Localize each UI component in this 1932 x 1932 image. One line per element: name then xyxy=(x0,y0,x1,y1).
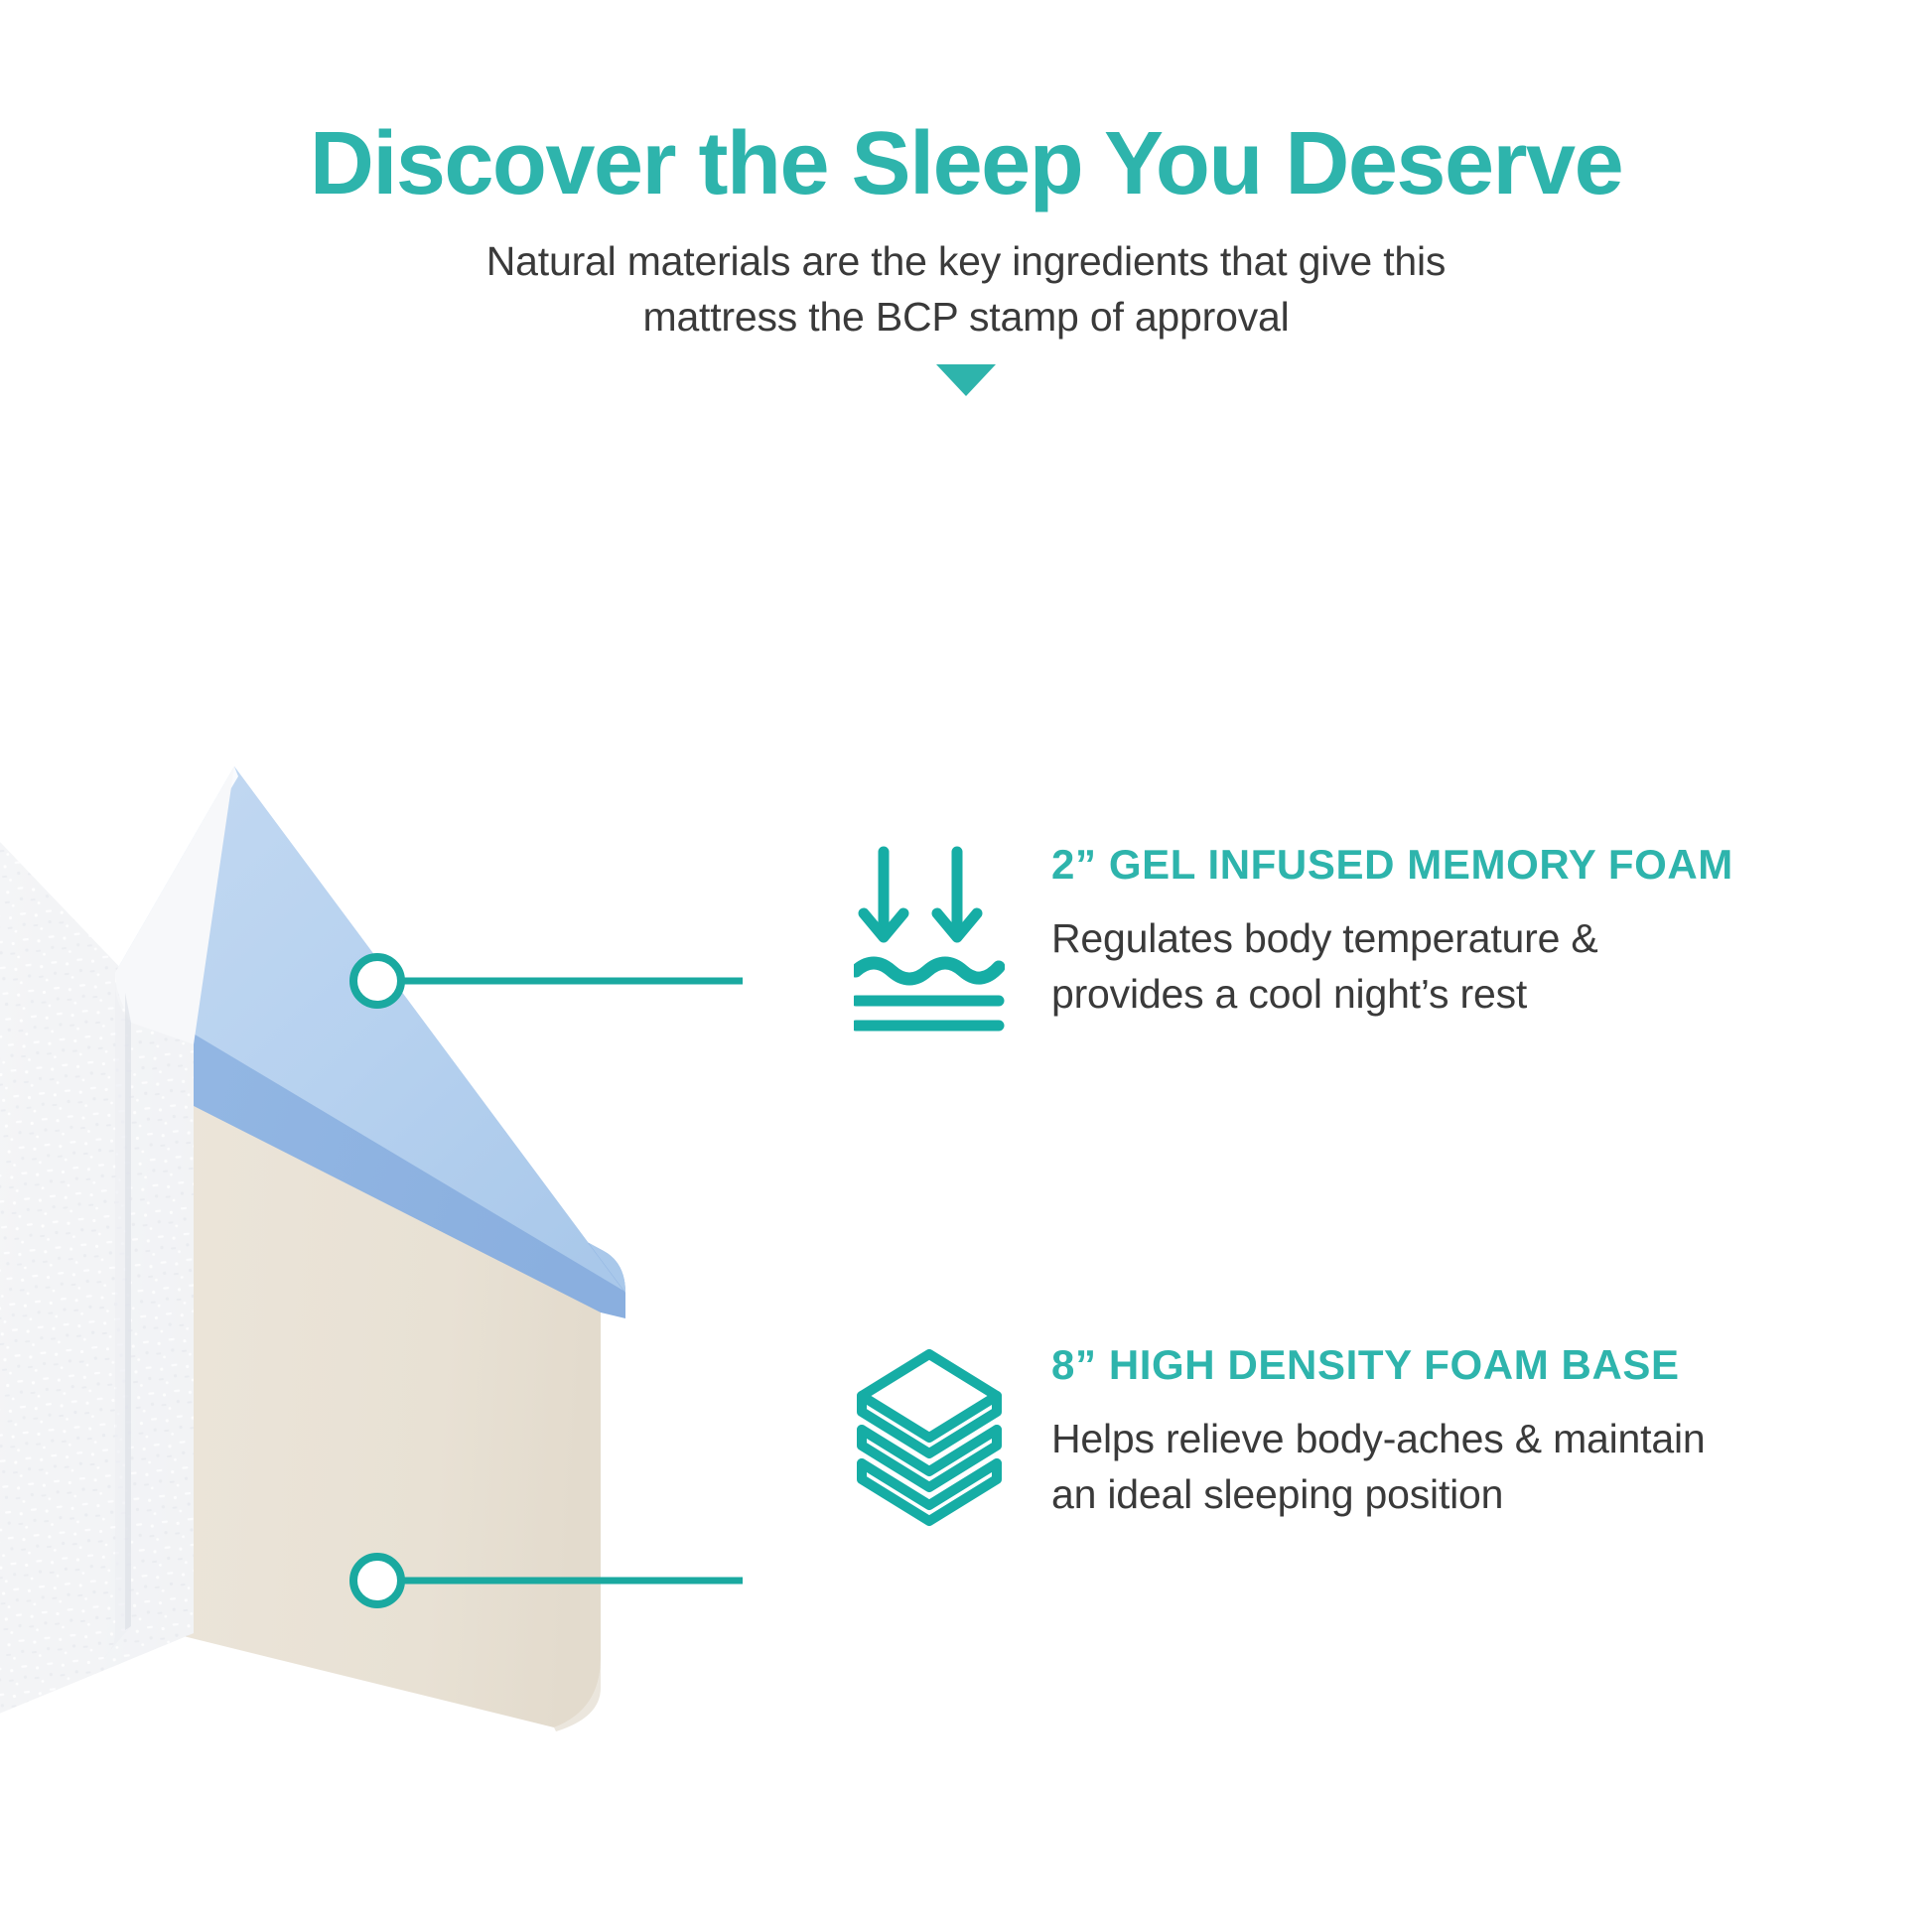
stacked-layers-icon xyxy=(854,1342,1028,1538)
leader-line-gel-foam xyxy=(353,957,743,1005)
feature-base-foam: 8” HIGH DENSITY FOAM BASE Helps relieve … xyxy=(854,1342,1916,1538)
quilted-cover-panel xyxy=(0,645,208,1787)
feature-base-foam-title: 8” HIGH DENSITY FOAM BASE xyxy=(1051,1342,1916,1388)
feature-base-foam-text: 8” HIGH DENSITY FOAM BASE Helps relieve … xyxy=(1028,1342,1916,1523)
subtitle-line-2: mattress the BCP stamp of approval xyxy=(420,289,1512,345)
page-title: Discover the Sleep You Deserve xyxy=(0,117,1932,211)
mattress-cutaway-diagram xyxy=(0,556,834,1787)
feature-gel-foam-text: 2” GEL INFUSED MEMORY FOAM Regulates bod… xyxy=(1028,842,1916,1023)
feature-gel-foam-description: Regulates body temperature & provides a … xyxy=(1051,911,1865,1023)
feature-gel-foam-title: 2” GEL INFUSED MEMORY FOAM xyxy=(1051,842,1916,888)
pressure-arrows-waves-icon xyxy=(854,842,1028,1037)
subtitle-line-1: Natural materials are the key ingredient… xyxy=(420,233,1512,290)
feature-gel-foam-desc-line-1: Regulates body temperature & xyxy=(1051,915,1598,961)
header-block: Discover the Sleep You Deserve Natural m… xyxy=(0,117,1932,345)
feature-gel-foam: 2” GEL INFUSED MEMORY FOAM Regulates bod… xyxy=(854,842,1916,1037)
leader-dot-base-foam xyxy=(353,1557,401,1604)
page-subtitle: Natural materials are the key ingredient… xyxy=(420,233,1512,345)
feature-base-foam-desc-line-2: an ideal sleeping position xyxy=(1051,1471,1503,1517)
infographic-canvas: Discover the Sleep You Deserve Natural m… xyxy=(0,0,1932,1932)
feature-gel-foam-desc-line-2: provides a cool night’s rest xyxy=(1051,971,1527,1017)
chevron-down-triangle-icon xyxy=(936,364,996,396)
feature-base-foam-desc-line-1: Helps relieve body-aches & maintain xyxy=(1051,1416,1705,1461)
leader-dot-gel-foam xyxy=(353,957,401,1005)
feature-base-foam-description: Helps relieve body-aches & maintain an i… xyxy=(1051,1412,1865,1523)
